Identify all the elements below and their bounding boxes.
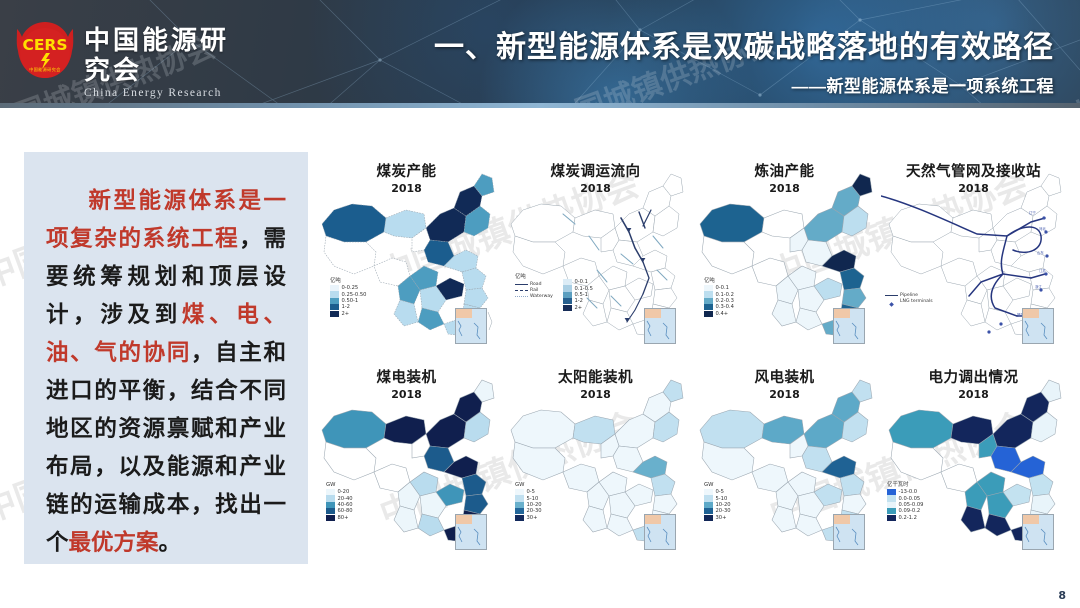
legend-swatch: [563, 279, 572, 285]
summary-seg-highlight-3: 最优方案: [69, 530, 159, 556]
legend-swatch: [563, 305, 572, 311]
legend-unit: GW: [326, 482, 353, 488]
legend-row: 2+: [563, 305, 593, 311]
legend-label: 80+: [338, 515, 349, 521]
legend-row: 20-30: [515, 508, 542, 514]
legend-swatch: [326, 502, 335, 508]
legend-row: 5-10: [515, 495, 542, 501]
legend-swatch: [515, 502, 524, 508]
legend-row: 0-20: [326, 489, 353, 495]
cers-badge-icon: CERS 中国能源研究会: [14, 20, 76, 82]
legend-label: 0.3-0.4: [716, 304, 734, 310]
inset-map-graphic: [645, 515, 675, 549]
legend-label: 1-2: [342, 304, 350, 310]
legend-label: -13-0.0: [899, 489, 918, 495]
svg-text:山东: 山东: [1037, 250, 1044, 255]
map-grid: 煤炭产能 2018: [312, 152, 1068, 564]
legend-swatch: [515, 508, 524, 514]
page-number: 8: [1058, 589, 1066, 602]
legend-swatch: [704, 291, 713, 297]
legend-swatch: [704, 515, 713, 521]
legend-row: 0.1-0.5: [563, 285, 593, 291]
legend-row: ◆LNG terminals: [885, 298, 933, 304]
inset-map-graphic: [1023, 515, 1053, 549]
summary-seg-plain-3: 。: [159, 530, 182, 556]
legend-unit: GW: [515, 482, 542, 488]
legend-swatch: [330, 285, 339, 291]
legend-swatch: [704, 298, 713, 304]
legend-label: 0.1-0.2: [716, 292, 734, 298]
page-title: 一、新型能源体系是双碳战略落地的有效路径: [434, 22, 1054, 66]
slide-header: 中国城镇供热协会 中国城镇供热协会 中国城镇供热协会 CERS 中国能源研究会 …: [0, 0, 1080, 108]
legend-label: 0.05-0.09: [899, 502, 924, 508]
legend-label: 0-0.1: [575, 279, 588, 285]
map-card-gas-pipeline[interactable]: 天然气管网及接收站 2018: [879, 152, 1068, 358]
map-card-coal-transport[interactable]: 煤炭调运流向 2018: [501, 152, 690, 358]
legend-line: [515, 290, 528, 291]
legend-swatch: [326, 508, 335, 514]
map-legend: 亿吨 0-0.25 0.25-0.50 0.50-1 1-2 2+: [330, 276, 366, 317]
svg-text:CERS: CERS: [22, 36, 67, 54]
legend-label: 0.0-0.05: [899, 496, 921, 502]
legend-line: [515, 296, 528, 297]
legend-label: 5-10: [527, 496, 539, 502]
legend-row: 0.09-0.2: [887, 508, 923, 514]
south-sea-inset-map: [455, 514, 487, 550]
cers-logo: CERS 中国能源研究会 中国能源研究会 China Energy Resear…: [14, 20, 240, 82]
south-sea-inset-map: [1022, 308, 1054, 344]
legend-unit: 亿千瓦时: [887, 480, 923, 488]
legend-label: 0.1-0.5: [575, 286, 593, 292]
legend-row: 2+: [330, 311, 366, 317]
legend-label: 0.25-0.50: [342, 292, 367, 298]
legend-swatch: [330, 311, 339, 317]
legend-label: 0-0.25: [342, 285, 359, 291]
south-sea-inset-map: [644, 308, 676, 344]
legend-row: 0.05-0.09: [887, 502, 923, 508]
map-card-coal-capacity[interactable]: 煤炭产能 2018: [312, 152, 501, 358]
legend-row: 20-40: [326, 495, 353, 501]
south-sea-inset-map: [455, 308, 487, 344]
page-subtitle: ——新型能源体系是一项系统工程: [792, 72, 1055, 97]
legend-label: 10-20: [527, 502, 542, 508]
legend-swatch: [326, 489, 335, 495]
map-legend-lines: Pipeline ◆LNG terminals: [885, 292, 933, 305]
legend-label: LNG terminals: [900, 299, 933, 304]
legend-swatch: [887, 508, 896, 514]
legend-label: 0.5-1: [575, 292, 588, 298]
map-legend: 亿千瓦时 -13-0.0 0.0-0.05 0.05-0.09 0.09-0.2…: [887, 480, 923, 521]
inset-map-graphic: [645, 309, 675, 343]
south-sea-inset-map: [833, 308, 865, 344]
logo-org-name-cn: 中国能源研究会: [84, 25, 240, 85]
inset-map-graphic: [834, 515, 864, 549]
legend-swatch: [704, 489, 713, 495]
legend-swatch: [887, 502, 896, 508]
inset-map-graphic: [834, 309, 864, 343]
legend-label: Road: [530, 282, 542, 287]
legend-row: 0.0-0.05: [887, 495, 923, 501]
legend-label: 0-5: [716, 489, 724, 495]
legend-label: 2+: [342, 311, 350, 317]
legend-swatch: [704, 304, 713, 310]
map-legend-lines: 亿吨 Road Rail Waterway: [515, 272, 559, 300]
summary-seg-plain-2: ，自主和进口的平衡，结合不同地区的资源禀赋和产业布局，以及能源和产业链的运输成本…: [46, 340, 286, 556]
inset-map-graphic: [456, 515, 486, 549]
svg-text:河北: 河北: [1039, 226, 1046, 231]
legend-label: 0.2-1.2: [899, 515, 917, 521]
legend-label: 2+: [575, 305, 583, 311]
legend-row: Waterway: [515, 294, 559, 300]
legend-unit: 亿吨: [704, 276, 734, 284]
legend-swatch: [563, 298, 572, 304]
summary-text-body: 新型能源体系是一项复杂的系统工程，需要统筹规划和顶层设计，涉及到煤、电、油、气的…: [24, 152, 308, 562]
map-legend: . 0-0.1 0.1-0.5 0.5-1 1-2 2+: [563, 272, 593, 311]
legend-row: 0.1-0.2: [704, 291, 734, 297]
map-card-oil-refining[interactable]: 炼油产能 2018: [690, 152, 879, 358]
svg-text:江苏: 江苏: [1039, 268, 1046, 273]
legend-swatch: [704, 311, 713, 317]
svg-text:浙江: 浙江: [1035, 284, 1042, 289]
legend-label: Pipeline: [900, 293, 918, 298]
map-legend: GW 0-5 5-10 10-20 20-30 30+: [704, 482, 731, 521]
map-card-power-dispatch[interactable]: 电力调出情况 2018: [879, 358, 1068, 564]
legend-row: 0.2-0.3: [704, 298, 734, 304]
legend-unit: 亿吨: [515, 272, 559, 280]
south-sea-inset-map: [644, 514, 676, 550]
inset-map-graphic: [1023, 309, 1053, 343]
legend-line-pipeline: [885, 295, 898, 296]
inset-map-graphic: [456, 309, 486, 343]
legend-label: 0.2-0.3: [716, 298, 734, 304]
map-card-coal-power[interactable]: 煤电装机 2018: [312, 358, 501, 564]
legend-swatch: [887, 495, 896, 501]
map-legend: GW 0-5 5-10 10-20 20-30 30+: [515, 482, 542, 521]
legend-swatch: [887, 515, 896, 521]
legend-label: 40-60: [338, 502, 353, 508]
legend-row: 20-30: [704, 508, 731, 514]
legend-row: 30+: [515, 515, 542, 521]
legend-label: 60-80: [338, 508, 353, 514]
legend-swatch: [515, 489, 524, 495]
legend-row: 0.3-0.4: [704, 304, 734, 310]
south-sea-inset-map: [1022, 514, 1054, 550]
legend-row: 10-20: [515, 502, 542, 508]
legend-swatch: [704, 502, 713, 508]
map-legend: GW 0-20 20-40 40-60 60-80 80+: [326, 482, 353, 521]
svg-text:中国能源研究会: 中国能源研究会: [29, 66, 60, 72]
legend-row: 0.2-1.2: [887, 515, 923, 521]
legend-unit: GW: [704, 482, 731, 488]
legend-label: 0-20: [338, 489, 350, 495]
south-sea-inset-map: [833, 514, 865, 550]
legend-swatch: [563, 285, 572, 291]
legend-label: 20-30: [716, 508, 731, 514]
legend-label: 0.09-0.2: [899, 508, 921, 514]
summary-text-panel: 新型能源体系是一项复杂的系统工程，需要统筹规划和顶层设计，涉及到煤、电、油、气的…: [24, 152, 308, 564]
legend-label: Waterway: [530, 294, 553, 299]
legend-row: 40-60: [326, 502, 353, 508]
legend-swatch: [563, 292, 572, 298]
legend-row: 5-10: [704, 495, 731, 501]
map-card-wind-capacity[interactable]: 风电装机 2018: [690, 358, 879, 564]
legend-line: [515, 284, 528, 285]
legend-label: 0.4+: [716, 311, 729, 317]
legend-row: 10-20: [704, 502, 731, 508]
legend-label: 0.50-1: [342, 298, 359, 304]
legend-label: 0-5: [527, 489, 535, 495]
header-divider: [0, 103, 1080, 108]
legend-swatch: [326, 495, 335, 501]
legend-label: 5-10: [716, 496, 728, 502]
legend-label: Rail: [530, 288, 538, 293]
legend-label: 30+: [716, 515, 727, 521]
legend-swatch: [704, 285, 713, 291]
legend-unit: 亿吨: [330, 276, 366, 284]
legend-swatch: [330, 304, 339, 310]
legend-row: 80+: [326, 515, 353, 521]
map-card-solar-capacity[interactable]: 太阳能装机 2018: [501, 358, 690, 564]
legend-row: 60-80: [326, 508, 353, 514]
legend-label: 10-20: [716, 502, 731, 508]
legend-swatch: [330, 291, 339, 297]
legend-label: 30+: [527, 515, 538, 521]
legend-label: 20-30: [527, 508, 542, 514]
legend-label: 1-2: [575, 298, 583, 304]
legend-row: 30+: [704, 515, 731, 521]
map-legend: 亿吨 0-0.1 0.1-0.2 0.2-0.3 0.3-0.4 0.4+: [704, 276, 734, 317]
legend-swatch: [515, 495, 524, 501]
legend-swatch: [704, 495, 713, 501]
legend-swatch: [704, 508, 713, 514]
legend-swatch: [887, 489, 896, 495]
svg-text:辽宁: 辽宁: [1029, 210, 1036, 215]
legend-swatch: [326, 515, 335, 521]
legend-row: 0.4+: [704, 311, 734, 317]
legend-row: 0.25-0.50: [330, 291, 366, 297]
legend-label: 20-40: [338, 496, 353, 502]
legend-swatch: [515, 515, 524, 521]
legend-label: 0-0.1: [716, 285, 729, 291]
legend-swatch: [330, 298, 339, 304]
